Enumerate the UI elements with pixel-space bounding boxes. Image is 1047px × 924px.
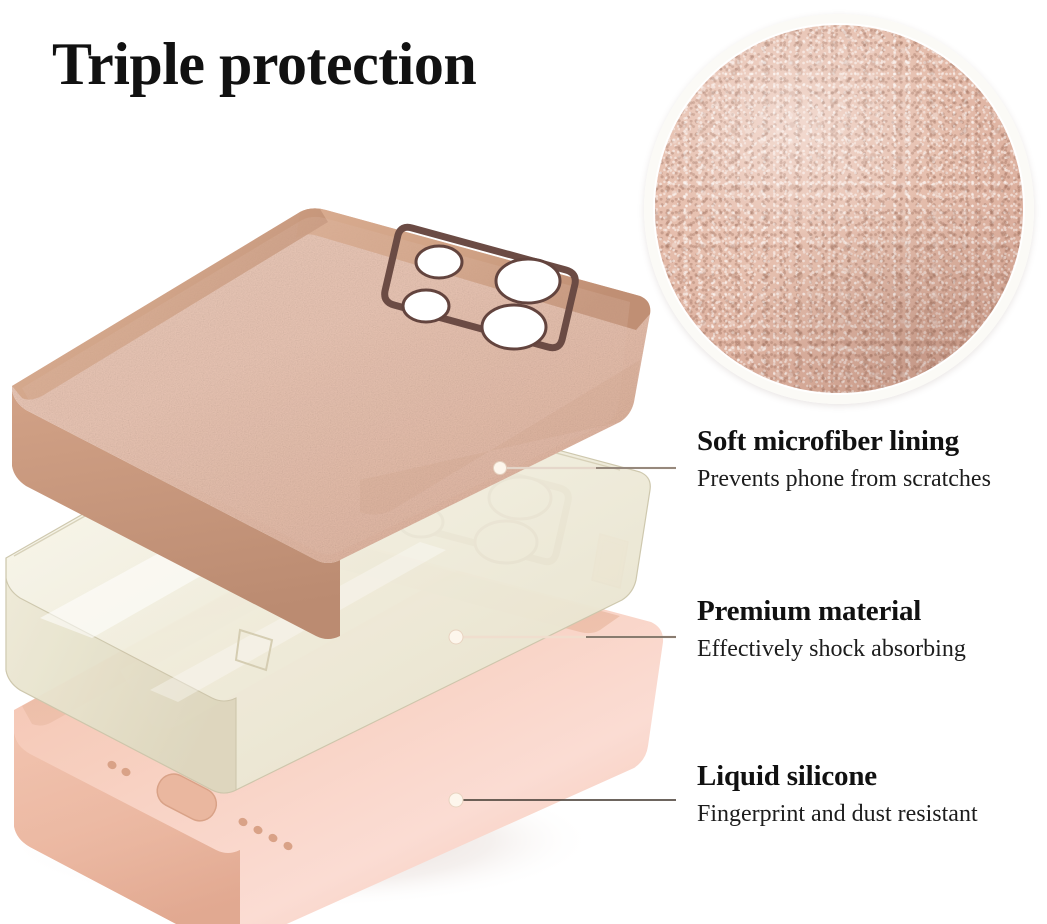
- feature-premium-material: Premium material Effectively shock absor…: [697, 595, 1042, 664]
- feature-liquid-silicone: Liquid silicone Fingerprint and dust res…: [697, 760, 1042, 829]
- microfiber-texture-closeup: [644, 14, 1034, 404]
- infographic-page: Triple protection: [0, 0, 1047, 924]
- feature-soft-microfiber-lining: Soft microfiber lining Prevents phone fr…: [697, 425, 1042, 494]
- texture-circle-ring: [644, 14, 1034, 404]
- exploded-case-illustration: [0, 150, 700, 924]
- feature-subtitle: Fingerprint and dust resistant: [697, 800, 1042, 829]
- page-title: Triple protection: [52, 33, 476, 96]
- feature-title: Soft microfiber lining: [697, 425, 1042, 458]
- feature-subtitle: Effectively shock absorbing: [697, 635, 1042, 664]
- feature-title: Liquid silicone: [697, 760, 1042, 793]
- feature-title: Premium material: [697, 595, 1042, 628]
- feature-subtitle: Prevents phone from scratches: [697, 465, 1042, 494]
